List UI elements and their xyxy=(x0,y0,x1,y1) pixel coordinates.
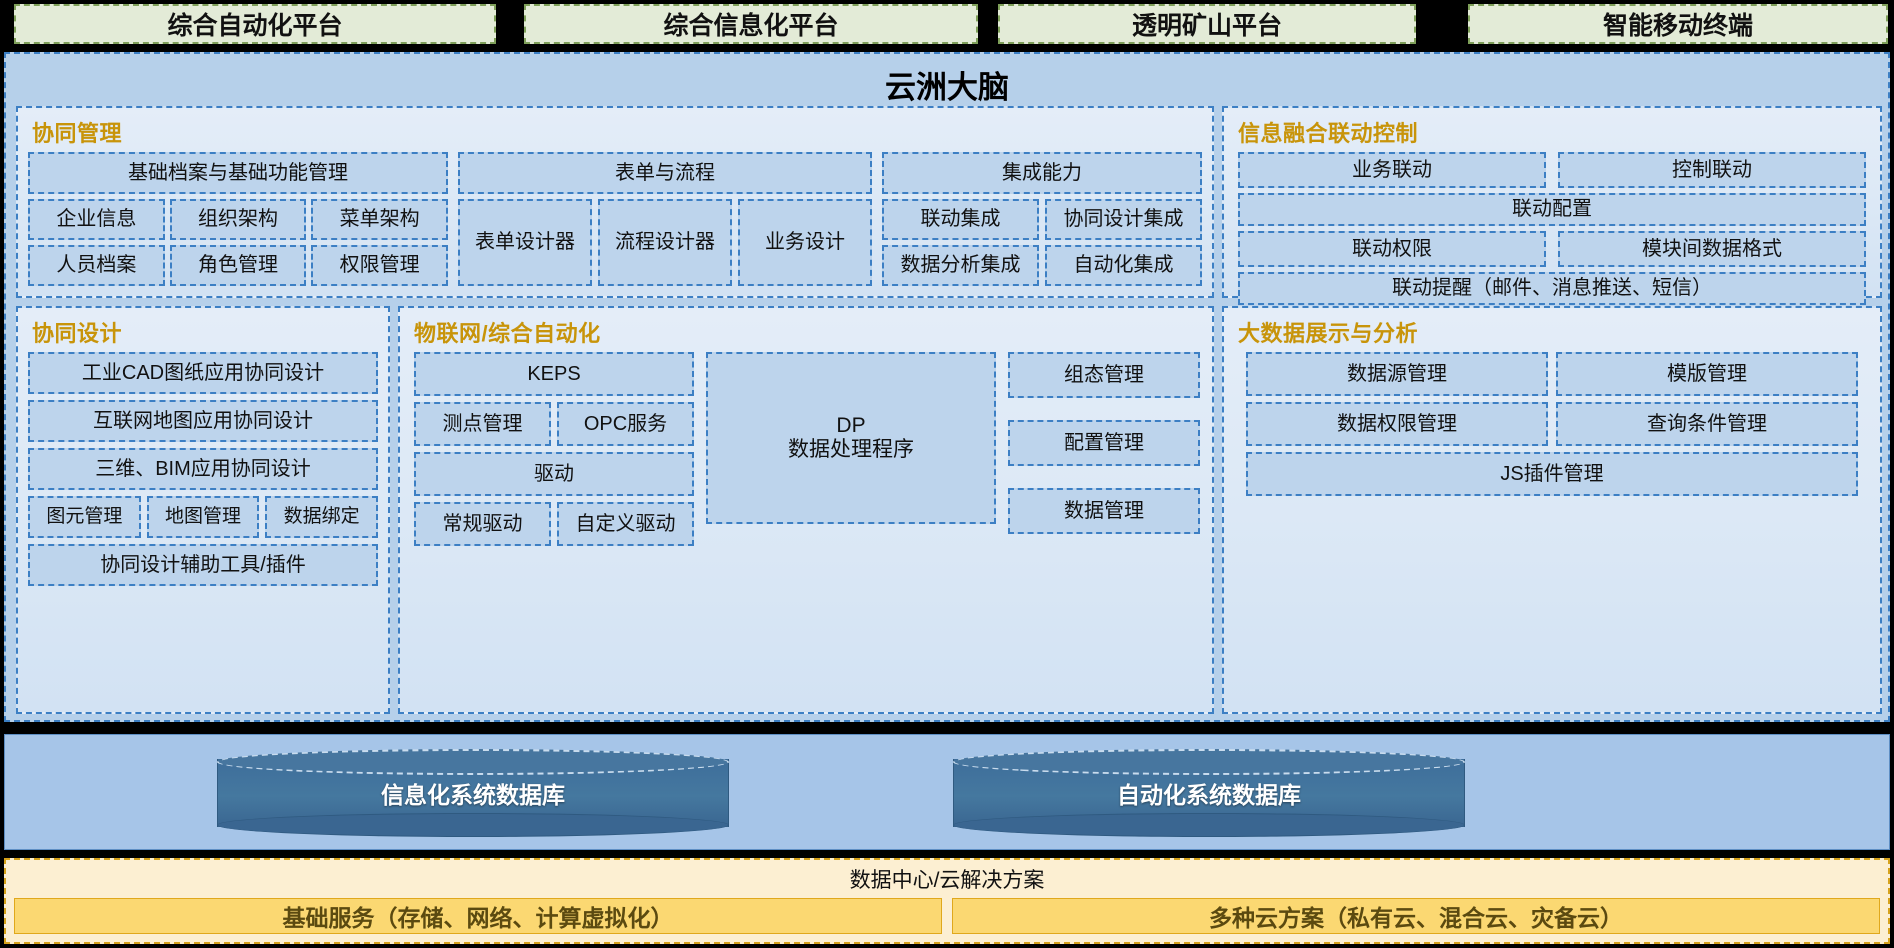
item-data-management[interactable]: 数据管理 xyxy=(1008,488,1200,534)
cloud-band-title: 数据中心/云解决方案 xyxy=(6,860,1888,894)
group-form-and-process: 表单与流程 表单设计器 流程设计器 业务设计 xyxy=(458,152,872,286)
item-personnel-archive[interactable]: 人员档案 xyxy=(28,245,165,286)
item-business-design[interactable]: 业务设计 xyxy=(738,199,872,286)
panel-title: 大数据展示与分析 xyxy=(1224,308,1880,352)
item-template-management[interactable]: 模版管理 xyxy=(1556,352,1858,396)
cloud-items-row: 基础服务（存储、网络、计算虚拟化） 多种云方案（私有云、混合云、灾备云） xyxy=(6,894,1888,942)
panel-collaborative-management: 协同管理 基础档案与基础功能管理 企业信息 组织架构 菜单架构 人员档案 角色管… xyxy=(16,106,1214,298)
item-org-structure[interactable]: 组织架构 xyxy=(170,199,307,240)
panel-title: 协同设计 xyxy=(18,308,388,352)
item-js-plugin-management[interactable]: JS插件管理 xyxy=(1246,452,1858,496)
row: 测点管理 OPC服务 xyxy=(414,402,694,446)
item-map-management[interactable]: 地图管理 xyxy=(147,496,260,538)
row: 数据权限管理 查询条件管理 xyxy=(1246,402,1858,446)
database-label: 信息化系统数据库 xyxy=(217,749,729,837)
group-header-form-process[interactable]: 表单与流程 xyxy=(458,152,872,194)
item-data-analysis-integration[interactable]: 数据分析集成 xyxy=(882,245,1039,286)
item-symbol-management[interactable]: 图元管理 xyxy=(28,496,141,538)
item-measuring-point-management[interactable]: 测点管理 xyxy=(414,402,551,446)
datacenter-cloud-band: 数据中心/云解决方案 基础服务（存储、网络、计算虚拟化） 多种云方案（私有云、混… xyxy=(4,858,1890,944)
brain-title: 云洲大脑 xyxy=(6,62,1888,107)
brain-grid: 协同管理 基础档案与基础功能管理 企业信息 组织架构 菜单架构 人员档案 角色管… xyxy=(16,106,1882,714)
row: 常规驱动 自定义驱动 xyxy=(414,502,694,546)
item-keps[interactable]: KEPS xyxy=(414,352,694,396)
panel-title: 协同管理 xyxy=(18,108,1212,152)
item-control-linkage[interactable]: 控制联动 xyxy=(1558,152,1866,188)
item-opc-service[interactable]: OPC服务 xyxy=(557,402,694,446)
item-basic-services[interactable]: 基础服务（存储、网络、计算虚拟化） xyxy=(14,898,942,934)
item-codesign-integration[interactable]: 协同设计集成 xyxy=(1045,199,1202,240)
item-business-linkage[interactable]: 业务联动 xyxy=(1238,152,1546,188)
brain-left-row2: 协同设计 工业CAD图纸应用协同设计 互联网地图应用协同设计 三维、BIM应用协… xyxy=(16,306,1214,714)
panel-title: 信息融合联动控制 xyxy=(1224,108,1880,152)
item-3d-bim-codesign[interactable]: 三维、BIM应用协同设计 xyxy=(28,448,378,490)
row: 表单设计器 流程设计器 业务设计 xyxy=(458,199,872,286)
platform-box-transparent-mine[interactable]: 透明矿山平台 xyxy=(998,4,1416,44)
group-iot-left: KEPS 测点管理 OPC服务 驱动 常规驱动 自定义驱动 xyxy=(414,352,694,694)
platform-box-information[interactable]: 综合信息化平台 xyxy=(524,4,978,44)
database-band: 信息化系统数据库 自动化系统数据库 xyxy=(4,734,1890,850)
database-cylinder-automation[interactable]: 自动化系统数据库 xyxy=(953,749,1465,837)
panel-body: 工业CAD图纸应用协同设计 互联网地图应用协同设计 三维、BIM应用协同设计 图… xyxy=(18,352,388,712)
panel-title: 物联网/综合自动化 xyxy=(400,308,1212,352)
item-custom-driver[interactable]: 自定义驱动 xyxy=(557,502,694,546)
item-data-binding[interactable]: 数据绑定 xyxy=(265,496,378,538)
row: 联动权限 模块间数据格式 xyxy=(1238,231,1866,267)
item-query-condition-management[interactable]: 查询条件管理 xyxy=(1556,402,1858,446)
group-basic-archive: 基础档案与基础功能管理 企业信息 组织架构 菜单架构 人员档案 角色管理 权限管… xyxy=(28,152,448,286)
item-datasource-management[interactable]: 数据源管理 xyxy=(1246,352,1548,396)
item-inter-module-data-format[interactable]: 模块间数据格式 xyxy=(1558,231,1866,267)
item-menu-structure[interactable]: 菜单架构 xyxy=(311,199,448,240)
item-linkage-reminder[interactable]: 联动提醒（邮件、消息推送、短信） xyxy=(1238,272,1866,305)
database-cylinder-information[interactable]: 信息化系统数据库 xyxy=(217,749,729,837)
item-process-designer[interactable]: 流程设计器 xyxy=(598,199,732,286)
item-codesign-tools-plugins[interactable]: 协同设计辅助工具/插件 xyxy=(28,544,378,586)
item-linkage-integration[interactable]: 联动集成 xyxy=(882,199,1039,240)
platform-box-mobile-terminal[interactable]: 智能移动终端 xyxy=(1468,4,1888,44)
platform-label: 综合自动化平台 xyxy=(167,6,342,42)
brain-left-column: 协同管理 基础档案与基础功能管理 企业信息 组织架构 菜单架构 人员档案 角色管… xyxy=(16,106,1214,714)
database-label: 自动化系统数据库 xyxy=(953,749,1465,837)
panel-iot-automation: 物联网/综合自动化 KEPS 测点管理 OPC服务 驱动 常规驱动 自定义驱动 xyxy=(398,306,1214,714)
dp-fullname: 数据处理程序 xyxy=(788,438,914,462)
platform-label: 综合信息化平台 xyxy=(663,6,838,42)
row: 企业信息 组织架构 菜单架构 xyxy=(28,199,448,240)
row: 联动集成 协同设计集成 xyxy=(882,199,1202,240)
group-integration-capability: 集成能力 联动集成 协同设计集成 数据分析集成 自动化集成 xyxy=(882,152,1202,286)
brain-right-column: 信息融合联动控制 业务联动 控制联动 联动配置 联动权限 模块间数据格式 联动提… xyxy=(1222,106,1882,714)
item-role-management[interactable]: 角色管理 xyxy=(170,245,307,286)
row: 人员档案 角色管理 权限管理 xyxy=(28,245,448,286)
group-iot-right: 组态管理 配置管理 数据管理 xyxy=(1008,352,1200,694)
item-config-management[interactable]: 配置管理 xyxy=(1008,420,1200,466)
group-header-basic-archive[interactable]: 基础档案与基础功能管理 xyxy=(28,152,448,194)
item-data-processing-program[interactable]: DP 数据处理程序 xyxy=(706,352,996,524)
panel-body: 基础档案与基础功能管理 企业信息 组织架构 菜单架构 人员档案 角色管理 权限管… xyxy=(18,152,1212,296)
panel-body: 数据源管理 模版管理 数据权限管理 查询条件管理 JS插件管理 xyxy=(1224,352,1880,506)
panel-body: 业务联动 控制联动 联动配置 联动权限 模块间数据格式 联动提醒（邮件、消息推送… xyxy=(1224,152,1880,317)
group-header-integration[interactable]: 集成能力 xyxy=(882,152,1202,194)
row: 业务联动 控制联动 xyxy=(1238,152,1866,188)
panel-body: KEPS 测点管理 OPC服务 驱动 常规驱动 自定义驱动 xyxy=(400,352,1212,712)
platform-label: 透明矿山平台 xyxy=(1132,6,1282,42)
platform-strip: 综合自动化平台 综合信息化平台 透明矿山平台 智能移动终端 xyxy=(0,0,1894,46)
item-linkage-configuration[interactable]: 联动配置 xyxy=(1238,193,1866,226)
item-linkage-permission[interactable]: 联动权限 xyxy=(1238,231,1546,267)
item-cad-codesign[interactable]: 工业CAD图纸应用协同设计 xyxy=(28,352,378,394)
item-automation-integration[interactable]: 自动化集成 xyxy=(1045,245,1202,286)
panel-collaborative-design: 协同设计 工业CAD图纸应用协同设计 互联网地图应用协同设计 三维、BIM应用协… xyxy=(16,306,390,714)
panel-bigdata-display-analysis: 大数据展示与分析 数据源管理 模版管理 数据权限管理 查询条件管理 JS插件管理 xyxy=(1222,306,1882,714)
platform-label: 智能移动终端 xyxy=(1603,6,1753,42)
panel-info-fusion-linkage-control: 信息融合联动控制 业务联动 控制联动 联动配置 联动权限 模块间数据格式 联动提… xyxy=(1222,106,1882,298)
row: 数据源管理 模版管理 xyxy=(1246,352,1858,396)
item-configuration-hmi-management[interactable]: 组态管理 xyxy=(1008,352,1200,398)
item-standard-driver[interactable]: 常规驱动 xyxy=(414,502,551,546)
item-data-permission-management[interactable]: 数据权限管理 xyxy=(1246,402,1548,446)
item-enterprise-info[interactable]: 企业信息 xyxy=(28,199,165,240)
item-webmap-codesign[interactable]: 互联网地图应用协同设计 xyxy=(28,400,378,442)
row: 数据分析集成 自动化集成 xyxy=(882,245,1202,286)
item-driver[interactable]: 驱动 xyxy=(414,452,694,496)
row: 图元管理 地图管理 数据绑定 xyxy=(28,496,378,538)
item-permission-management[interactable]: 权限管理 xyxy=(311,245,448,286)
platform-box-automation[interactable]: 综合自动化平台 xyxy=(14,4,496,44)
item-cloud-solutions[interactable]: 多种云方案（私有云、混合云、灾备云） xyxy=(952,898,1880,934)
item-form-designer[interactable]: 表单设计器 xyxy=(458,199,592,286)
cloud-brain-container: 云洲大脑 协同管理 基础档案与基础功能管理 企业信息 组织架构 菜单架构 xyxy=(4,52,1890,722)
dp-acronym: DP xyxy=(836,414,865,438)
